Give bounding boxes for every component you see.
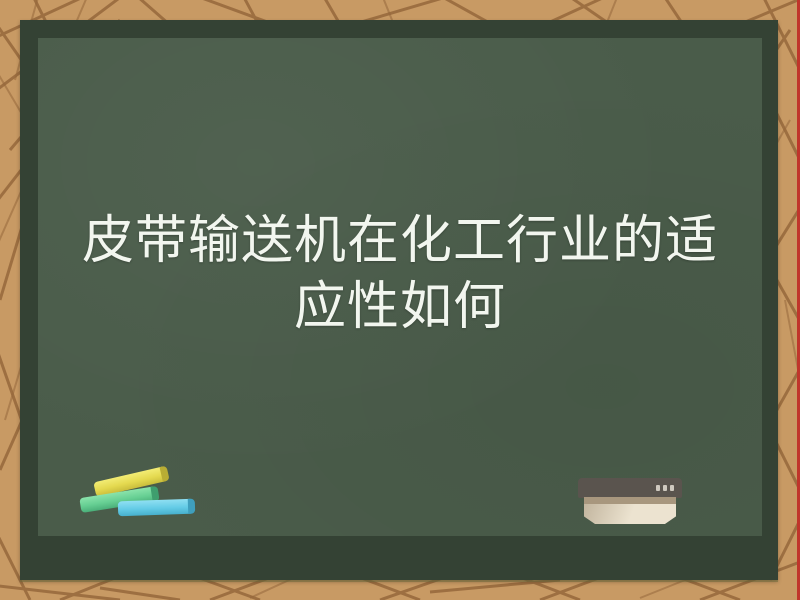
eraser-felt: [584, 504, 676, 524]
eraser-dots-icon: [656, 485, 674, 491]
blue-chalk[interactable]: [118, 499, 194, 517]
eraser-handle: [578, 478, 682, 498]
eraser-dot: [670, 485, 674, 491]
chalkboard-surface: 皮带输送机在化工行业的适应性如何: [38, 38, 762, 536]
eraser-dot: [656, 485, 660, 491]
chalkboard-eraser[interactable]: [578, 478, 682, 524]
chalkboard-scene: 皮带输送机在化工行业的适应性如何: [0, 0, 800, 600]
blue-chalk-tip: [188, 499, 196, 514]
chalkboard-headline: 皮带输送机在化工行业的适应性如何: [68, 208, 732, 340]
eraser-dot: [663, 485, 667, 491]
chalk-group: [80, 472, 200, 524]
chalkboard-frame: 皮带输送机在化工行业的适应性如何: [20, 20, 778, 580]
